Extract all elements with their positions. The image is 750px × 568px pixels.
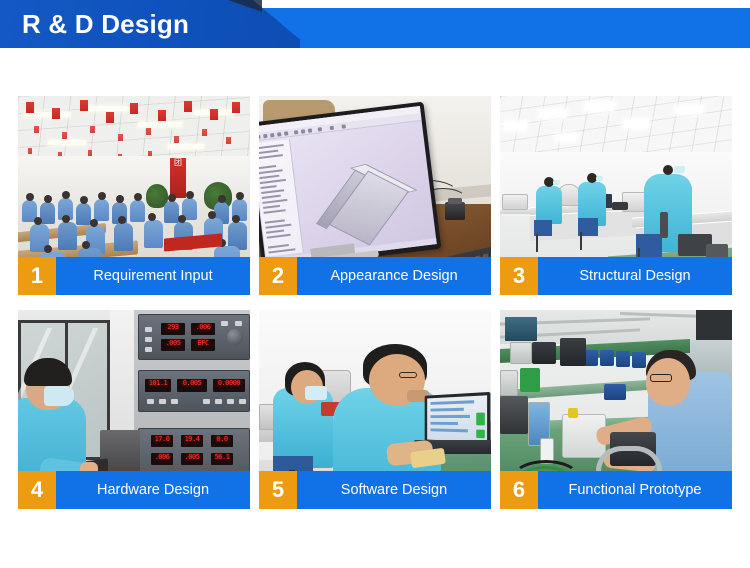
step-caption-3: 3 Structural Design bbox=[500, 257, 732, 295]
step-label-5: Software Design bbox=[297, 471, 491, 509]
step-label-1: Requirement Input bbox=[56, 257, 250, 295]
process-step-card-3[interactable]: 3 Structural Design bbox=[500, 96, 732, 295]
step-number-badge-4: 4 bbox=[18, 471, 56, 509]
process-step-card-2[interactable]: 2 Appearance Design bbox=[259, 96, 491, 295]
step-number-badge-5: 5 bbox=[259, 471, 297, 509]
step-number-badge-2: 2 bbox=[259, 257, 297, 295]
step-number-badge-6: 6 bbox=[500, 471, 538, 509]
step-caption-5: 5 Software Design bbox=[259, 471, 491, 509]
page-header-banner: R & D Design bbox=[0, 0, 750, 48]
process-step-card-5[interactable]: 5 Software Design bbox=[259, 310, 491, 509]
step-number-badge-3: 3 bbox=[500, 257, 538, 295]
process-step-card-4[interactable]: 293 .006 .005 EFC 101.1 bbox=[18, 310, 250, 509]
step-caption-6: 6 Functional Prototype bbox=[500, 471, 732, 509]
step-caption-4: 4 Hardware Design bbox=[18, 471, 250, 509]
process-step-grid: 团 bbox=[18, 96, 732, 509]
process-step-card-1[interactable]: 团 bbox=[18, 96, 250, 295]
step-caption-2: 2 Appearance Design bbox=[259, 257, 491, 295]
step-number-badge-1: 1 bbox=[18, 257, 56, 295]
step-label-4: Hardware Design bbox=[56, 471, 250, 509]
step-caption-1: 1 Requirement Input bbox=[18, 257, 250, 295]
step-label-6: Functional Prototype bbox=[538, 471, 732, 509]
page-title: R & D Design bbox=[22, 4, 189, 44]
process-step-card-6[interactable]: 6 Functional Prototype bbox=[500, 310, 732, 509]
rd-design-page: R & D Design bbox=[0, 0, 750, 568]
step-label-2: Appearance Design bbox=[297, 257, 491, 295]
step-label-3: Structural Design bbox=[538, 257, 732, 295]
